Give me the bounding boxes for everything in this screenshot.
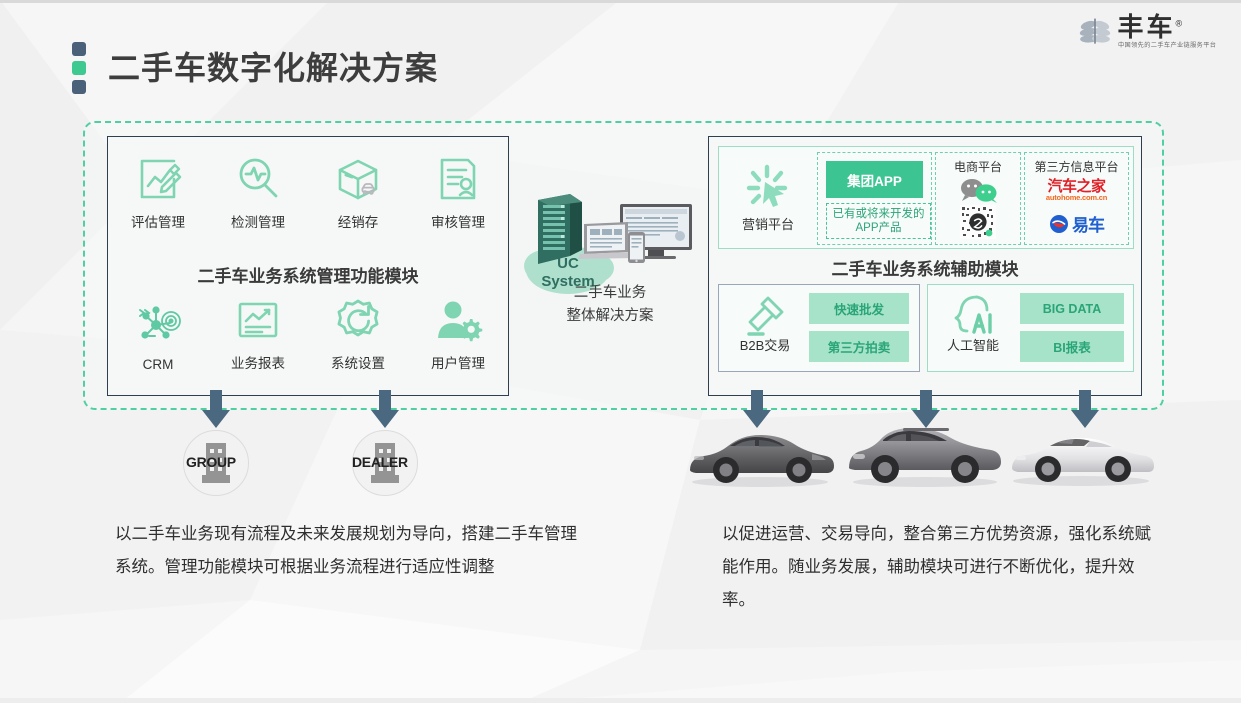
group-badge-label: GROUP	[186, 454, 236, 470]
title-bullets	[72, 42, 86, 94]
gear-refresh-icon	[332, 294, 384, 346]
brand-logo: 丰车® 中国领先的二手车产业链服务平台	[1078, 14, 1222, 50]
module-inspection[interactable]: 检测管理	[215, 153, 301, 231]
management-top-row: 评估管理 检测管理	[108, 153, 508, 231]
clipboard-chart-pencil-icon	[132, 153, 184, 205]
management-bottom-row: CRM 业务报表	[108, 294, 508, 372]
b2b-trade-box: B2B交易 快速批发 第三方拍卖	[718, 284, 920, 372]
b2b-icon-cell: B2B交易	[727, 291, 803, 354]
b2b-chip-wholesale[interactable]: 快速批发	[809, 293, 909, 324]
yiche-mark-icon	[1049, 214, 1069, 234]
module-audit[interactable]: 审核管理	[415, 153, 501, 231]
ecommerce-platform-cell: 电商平台	[935, 152, 1021, 245]
yiche-name: 易车	[1072, 211, 1104, 236]
arrow-down-group	[201, 390, 231, 430]
module-label: 业务报表	[231, 352, 285, 372]
bullet-square-2	[72, 61, 86, 75]
module-label: 审核管理	[431, 211, 485, 231]
gavel-icon	[741, 291, 789, 339]
module-evaluation[interactable]: 评估管理	[115, 153, 201, 231]
click-cursor-icon	[743, 162, 793, 212]
third-party-platform-label: 第三方信息平台	[1025, 158, 1128, 175]
marketing-and-platforms-box: 营销平台 集团APP 已有或将来开发的APP产品 电商平台	[718, 146, 1134, 249]
arrow-down-dealer	[370, 390, 400, 430]
page-title: 二手车数字化解决方案	[108, 43, 438, 89]
logo-registered-mark: ®	[1176, 18, 1186, 28]
network-target-icon	[132, 299, 184, 351]
management-panel-title: 二手车业务系统管理功能模块	[108, 262, 508, 287]
module-label: 用户管理	[431, 352, 485, 372]
wechat-miniprogram-qr-icon	[960, 205, 996, 239]
wechat-bubbles-icon	[956, 177, 1000, 203]
ecommerce-platform-label: 电商平台	[936, 158, 1020, 175]
group-app-chip[interactable]: 集团APP	[826, 161, 923, 198]
bullet-square-1	[72, 42, 86, 56]
car-coupe-dark	[684, 422, 836, 490]
wheat-logo-icon	[1078, 15, 1112, 49]
uc-caption-line1: 二手车业务	[500, 282, 720, 305]
module-label: CRM	[143, 357, 174, 372]
marketing-platform-label: 营销平台	[742, 214, 794, 233]
ai-box: 人工智能 BIG DATA BI报表	[927, 284, 1134, 372]
b2b-chip-auction[interactable]: 第三方拍卖	[809, 331, 909, 362]
bullet-square-3	[72, 80, 86, 94]
ai-label: 人工智能	[947, 335, 999, 354]
dealer-badge-label: DEALER	[352, 454, 408, 470]
management-modules-panel: 评估管理 检测管理	[107, 136, 509, 396]
car-convertible-white	[1006, 424, 1156, 488]
module-users[interactable]: 用户管理	[415, 294, 501, 372]
ai-chip-bigdata[interactable]: BIG DATA	[1020, 293, 1124, 324]
module-label: 系统设置	[331, 352, 385, 372]
document-stamp-icon	[432, 153, 484, 205]
module-label: 检测管理	[231, 211, 285, 231]
box-car-icon	[332, 153, 384, 205]
autohome-logo[interactable]: 汽车之家 autohome.com.cn	[1025, 179, 1128, 202]
module-inventory[interactable]: 经销存	[315, 153, 401, 231]
ai-icon-cell: 人工智能	[934, 291, 1012, 354]
marketing-platform-cell[interactable]: 营销平台	[725, 151, 811, 243]
future-app-chip[interactable]: 已有或将来开发的APP产品	[826, 203, 931, 239]
ai-chip-bireport[interactable]: BI报表	[1020, 331, 1124, 362]
logo-tagline: 中国领先的二手车产业链服务平台	[1118, 43, 1216, 49]
uc-caption-line2: 整体解决方案	[500, 305, 720, 328]
right-caption: 以促进运营、交易导向，整合第三方优势资源，强化系统赋能作用。随业务发展，辅助模块…	[722, 518, 1162, 617]
user-gear-icon	[432, 294, 484, 346]
report-chart-icon	[232, 294, 284, 346]
autohome-domain: autohome.com.cn	[1025, 194, 1128, 202]
b2b-label: B2B交易	[740, 335, 791, 354]
uc-caption: 二手车业务 整体解决方案	[500, 282, 720, 329]
module-settings[interactable]: 系统设置	[315, 294, 401, 372]
module-crm[interactable]: CRM	[115, 299, 201, 372]
module-label: 评估管理	[131, 211, 185, 231]
third-party-platform-cell: 第三方信息平台 汽车之家 autohome.com.cn 易车	[1024, 152, 1129, 245]
module-reports[interactable]: 业务报表	[215, 294, 301, 372]
app-group-cell: 集团APP 已有或将来开发的APP产品	[817, 152, 932, 245]
uc-badge-line1: UC	[557, 255, 579, 272]
auxiliary-panel-title: 二手车业务系统辅助模块	[709, 255, 1141, 280]
left-caption: 以二手车业务现有流程及未来发展规划为导向，搭建二手车管理系统。管理功能模块可根据…	[115, 518, 585, 584]
logo-wordmark: 丰车®	[1118, 14, 1186, 40]
car-suv-gray	[845, 418, 1005, 490]
yiche-logo[interactable]: 易车	[1025, 211, 1128, 236]
magnifier-pulse-icon	[232, 153, 284, 205]
module-label: 经销存	[338, 211, 379, 231]
auxiliary-modules-panel: 营销平台 集团APP 已有或将来开发的APP产品 电商平台	[708, 136, 1142, 396]
logo-word-text: 丰车	[1118, 12, 1176, 42]
ai-head-icon	[949, 291, 997, 339]
